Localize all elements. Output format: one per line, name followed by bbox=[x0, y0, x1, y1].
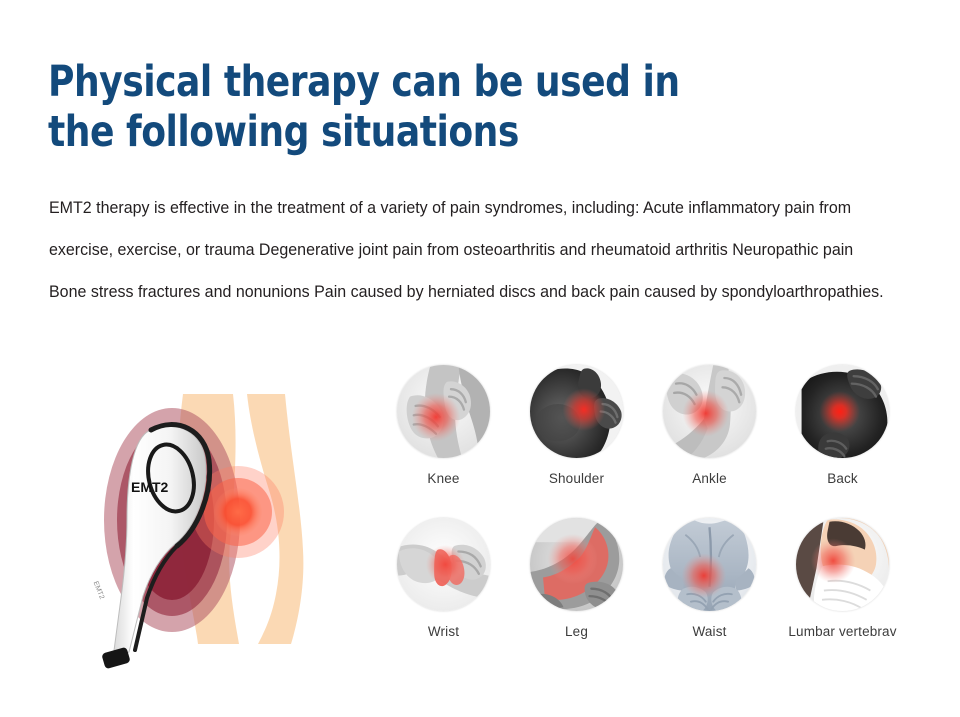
pain-area-row: Knee bbox=[377, 365, 955, 505]
device-brand-label: EMT2 bbox=[131, 479, 169, 495]
pain-area-label: Knee bbox=[427, 471, 459, 486]
page-title-line-2: the following situations bbox=[48, 107, 754, 157]
pain-area-item-knee[interactable]: Knee bbox=[377, 365, 510, 505]
intro-paragraph: EMT2 therapy is effective in the treatme… bbox=[49, 187, 889, 313]
pain-area-label: Waist bbox=[693, 624, 727, 639]
lumbar-vertebrae-pain-photo[interactable] bbox=[796, 518, 889, 611]
waist-pain-photo[interactable] bbox=[663, 518, 756, 611]
pain-area-row: Wrist bbox=[377, 518, 955, 658]
pain-area-item-wrist[interactable]: Wrist bbox=[377, 518, 510, 658]
knee-pain-graphic bbox=[397, 365, 490, 458]
back-pain-graphic bbox=[796, 365, 889, 458]
pain-area-label: Wrist bbox=[428, 624, 459, 639]
pain-area-grid: Knee bbox=[377, 365, 955, 660]
pain-area-label: Shoulder bbox=[549, 471, 604, 486]
pain-area-item-lumbar-vertebrae[interactable]: Lumbar vertebrav bbox=[776, 518, 909, 658]
wrist-pain-photo[interactable] bbox=[397, 518, 490, 611]
shoulder-pain-graphic bbox=[530, 365, 623, 458]
page-title-line-1: Physical therapy can be used in bbox=[48, 57, 754, 107]
page-title: Physical therapy can be used in the foll… bbox=[48, 57, 754, 157]
device-side-marking: EMT2 bbox=[92, 580, 106, 600]
back-pain-photo[interactable] bbox=[796, 365, 889, 458]
pain-area-label: Leg bbox=[565, 624, 588, 639]
pain-area-item-leg[interactable]: Leg bbox=[510, 518, 643, 658]
shoulder-pain-photo[interactable] bbox=[530, 365, 623, 458]
pain-area-label: Back bbox=[827, 471, 858, 486]
leg-pain-photo[interactable] bbox=[530, 518, 623, 611]
wrist-pain-graphic bbox=[397, 518, 490, 611]
knee-pain-photo[interactable] bbox=[397, 365, 490, 458]
pain-area-item-back[interactable]: Back bbox=[776, 365, 909, 505]
pain-area-label: Lumbar vertebrav bbox=[788, 624, 896, 639]
emt2-applicator-illustration: EMT2 EMT2 bbox=[55, 372, 375, 672]
waist-pain-graphic bbox=[663, 518, 756, 611]
device-illustration: EMT2 EMT2 bbox=[55, 372, 375, 672]
pain-area-label: Ankle bbox=[692, 471, 727, 486]
ankle-pain-graphic bbox=[663, 365, 756, 458]
pain-area-item-shoulder[interactable]: Shoulder bbox=[510, 365, 643, 505]
ankle-pain-photo[interactable] bbox=[663, 365, 756, 458]
pain-area-item-ankle[interactable]: Ankle bbox=[643, 365, 776, 505]
pain-area-item-waist[interactable]: Waist bbox=[643, 518, 776, 658]
leg-pain-graphic bbox=[530, 518, 623, 611]
cable-connector bbox=[101, 647, 130, 670]
lumbar-vertebrae-pain-graphic bbox=[796, 518, 889, 611]
